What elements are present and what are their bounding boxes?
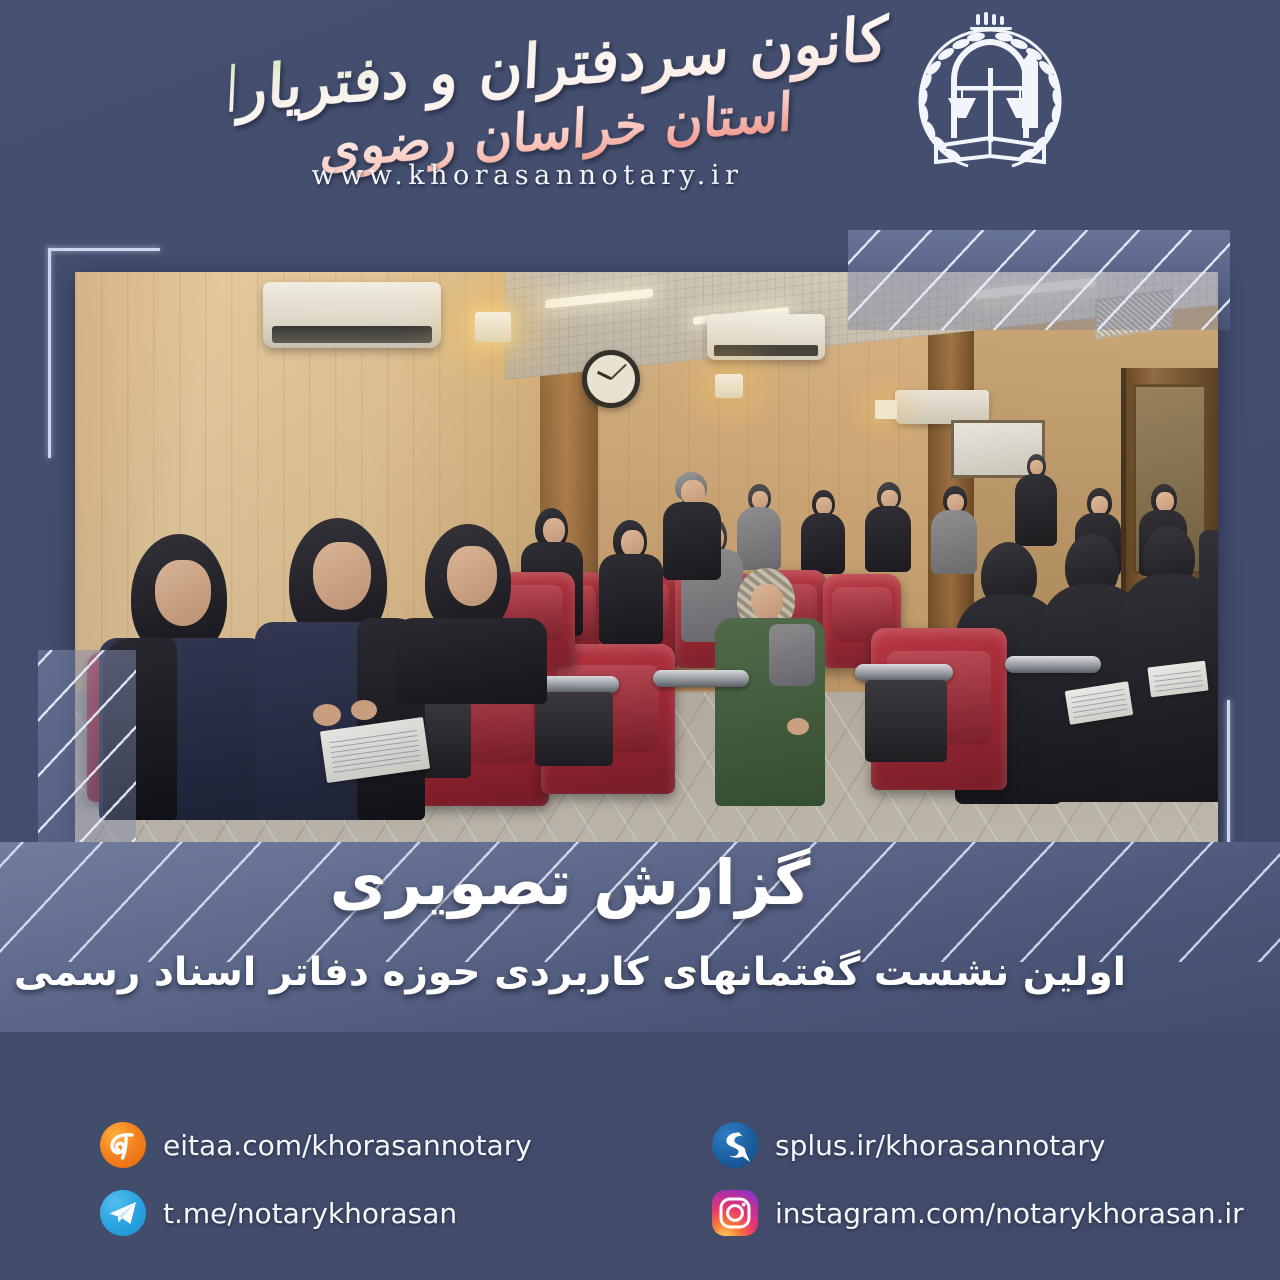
link-telegram-label: t.me/notarykhorasan [163, 1197, 457, 1230]
seat-armrest-base [865, 680, 947, 762]
photo-scene [75, 272, 1218, 842]
judiciary-emblem-icon [896, 6, 1084, 178]
person-front-1 [99, 534, 267, 820]
link-instagram[interactable]: instagram.com/notarykhorasan.ir [712, 1190, 1244, 1236]
link-eitaa-label: eitaa.com/khorasannotary [163, 1129, 532, 1162]
link-telegram[interactable]: t.me/notarykhorasan [100, 1190, 457, 1236]
social-links-footer: eitaa.com/khorasannotary t.me/notarykhor… [0, 1098, 1280, 1280]
event-photo [75, 272, 1218, 842]
seat-armrest [653, 670, 749, 687]
person-back-row [865, 482, 911, 572]
link-eitaa[interactable]: eitaa.com/khorasannotary [100, 1122, 532, 1168]
wall-sconce-3 [875, 400, 897, 419]
person-back-row [801, 490, 845, 574]
instagram-icon [712, 1190, 758, 1236]
air-conditioner-3 [895, 390, 989, 424]
person-mid-row [599, 520, 663, 644]
link-soroushplus[interactable]: splus.ir/khorasannotary [712, 1122, 1105, 1168]
seat-armrest [855, 664, 953, 681]
soroushplus-icon [712, 1122, 758, 1168]
person-seated-man [663, 472, 721, 580]
link-soroushplus-label: splus.ir/khorasannotary [775, 1129, 1105, 1162]
page-subtitle: اولین نشست گفتمانهای کاربردی حوزه دفاتر … [0, 950, 1140, 995]
handbag [769, 624, 815, 686]
person-front-3 [395, 524, 547, 704]
wall-clock-icon [582, 350, 640, 408]
air-conditioner-1 [263, 282, 441, 348]
page-title: گزارش تصویری [0, 846, 1140, 919]
person-standing-back [1013, 454, 1059, 546]
wall-sconce-1 [475, 312, 511, 342]
poster-header: کانون سردفتران و دفتریاران استان خراسان … [0, 0, 1280, 215]
link-instagram-label: instagram.com/notarykhorasan.ir [775, 1197, 1244, 1230]
eitaa-icon [100, 1122, 146, 1168]
person-back-row [737, 484, 781, 570]
person-green-coat [715, 568, 825, 806]
air-conditioner-2 [707, 314, 825, 360]
poster-canvas: کانون سردفتران و دفتریاران استان خراسان … [0, 0, 1280, 1280]
telegram-icon [100, 1190, 146, 1236]
seat-armrest [1005, 656, 1101, 673]
wall-sconce-2 [715, 374, 743, 398]
